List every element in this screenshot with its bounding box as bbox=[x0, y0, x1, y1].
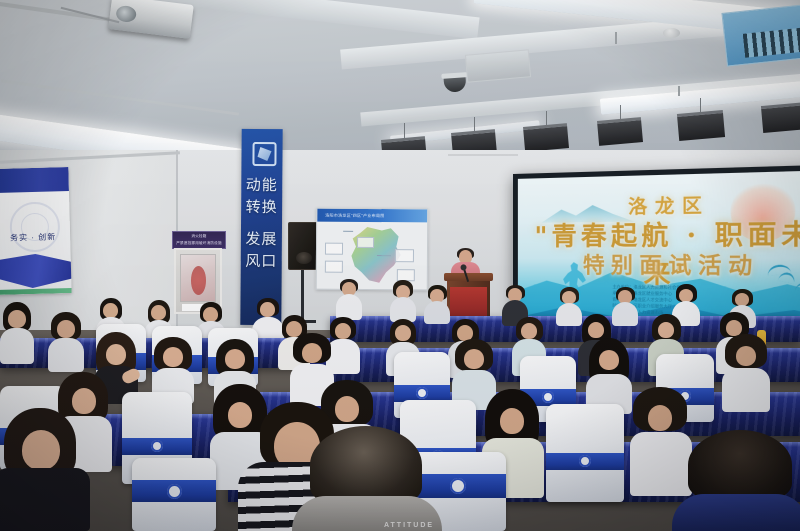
audience-member-clapping bbox=[0, 420, 90, 531]
banner-line-2: 发展风口 bbox=[241, 229, 282, 273]
map-legend-box bbox=[325, 243, 343, 255]
smoke-detector-icon bbox=[663, 28, 680, 38]
banner-text: 动能转换 发展风口 bbox=[241, 175, 283, 273]
ceiling-projector bbox=[108, 0, 194, 39]
poster-slogan: 务实 · 创新 bbox=[0, 231, 68, 244]
hose-reel-icon bbox=[191, 266, 206, 295]
ceiling-access-panel bbox=[465, 49, 531, 82]
organization-logo-icon bbox=[252, 142, 276, 166]
map-legend-box bbox=[325, 261, 343, 273]
photo-scene: 务实 · 创新 消火栓箱 严禁遮挡挪用破坏消防设施 动能转换 发展风口 洛阳市洛… bbox=[0, 0, 800, 531]
event-chair[interactable] bbox=[546, 404, 624, 502]
wall-seam bbox=[448, 154, 518, 156]
hvac-vent bbox=[721, 3, 800, 66]
slide-title-line-3: 特别面试活动 bbox=[518, 248, 800, 281]
hanging-unit bbox=[677, 110, 725, 141]
audience-member bbox=[0, 306, 34, 364]
audience-member bbox=[390, 282, 416, 322]
hanging-unit bbox=[523, 123, 569, 152]
hanging-wire bbox=[404, 123, 405, 139]
map-display-panel: 洛阳市洛龙区"四区"产业布局图 bbox=[316, 208, 429, 291]
poster-ribbon-graphic bbox=[0, 253, 72, 289]
map-header: 洛阳市洛龙区"四区"产业布局图 bbox=[317, 209, 427, 223]
shirt-text: ATTITUDE bbox=[384, 522, 434, 529]
speaker-stand bbox=[301, 266, 304, 322]
ceiling-beam bbox=[0, 0, 480, 39]
audience-member bbox=[424, 286, 450, 324]
wall-poster: 务实 · 创新 bbox=[0, 167, 72, 295]
ceiling-hanger bbox=[678, 86, 680, 96]
fire-safety-sign: 消火栓箱 严禁遮挡挪用破坏消防设施 bbox=[172, 231, 226, 249]
audience-member-foreground bbox=[672, 436, 800, 531]
map-callout bbox=[357, 237, 374, 248]
hanging-unit bbox=[597, 117, 643, 146]
map-header-text: 洛阳市洛龙区"四区"产业布局图 bbox=[317, 209, 427, 223]
podium-front-panel bbox=[450, 287, 487, 317]
fire-safety-sign-line2: 严禁遮挡挪用破坏消防设施 bbox=[173, 239, 225, 246]
map-leader-line bbox=[343, 231, 353, 232]
audience-member bbox=[336, 280, 362, 320]
event-chair[interactable] bbox=[132, 458, 216, 531]
poster-header-band bbox=[0, 167, 69, 193]
audience-member bbox=[722, 340, 770, 412]
map-leader-line bbox=[377, 255, 391, 256]
hanging-unit bbox=[761, 102, 800, 133]
ceiling-hanger bbox=[615, 32, 617, 44]
audience-member bbox=[48, 316, 84, 372]
audience-member bbox=[612, 288, 638, 326]
fire-safety-sign-line1: 消火栓箱 bbox=[173, 232, 225, 239]
banner-line-1: 动能转换 bbox=[241, 175, 282, 219]
audience-member-foreground: ATTITUDE bbox=[292, 430, 442, 531]
map-callout bbox=[395, 249, 414, 262]
ceiling-conduit bbox=[1, 79, 239, 115]
dome-camera-icon bbox=[443, 75, 466, 92]
poster-emblem-icon bbox=[9, 201, 60, 252]
vertical-banner: 动能转换 发展风口 bbox=[240, 129, 282, 325]
